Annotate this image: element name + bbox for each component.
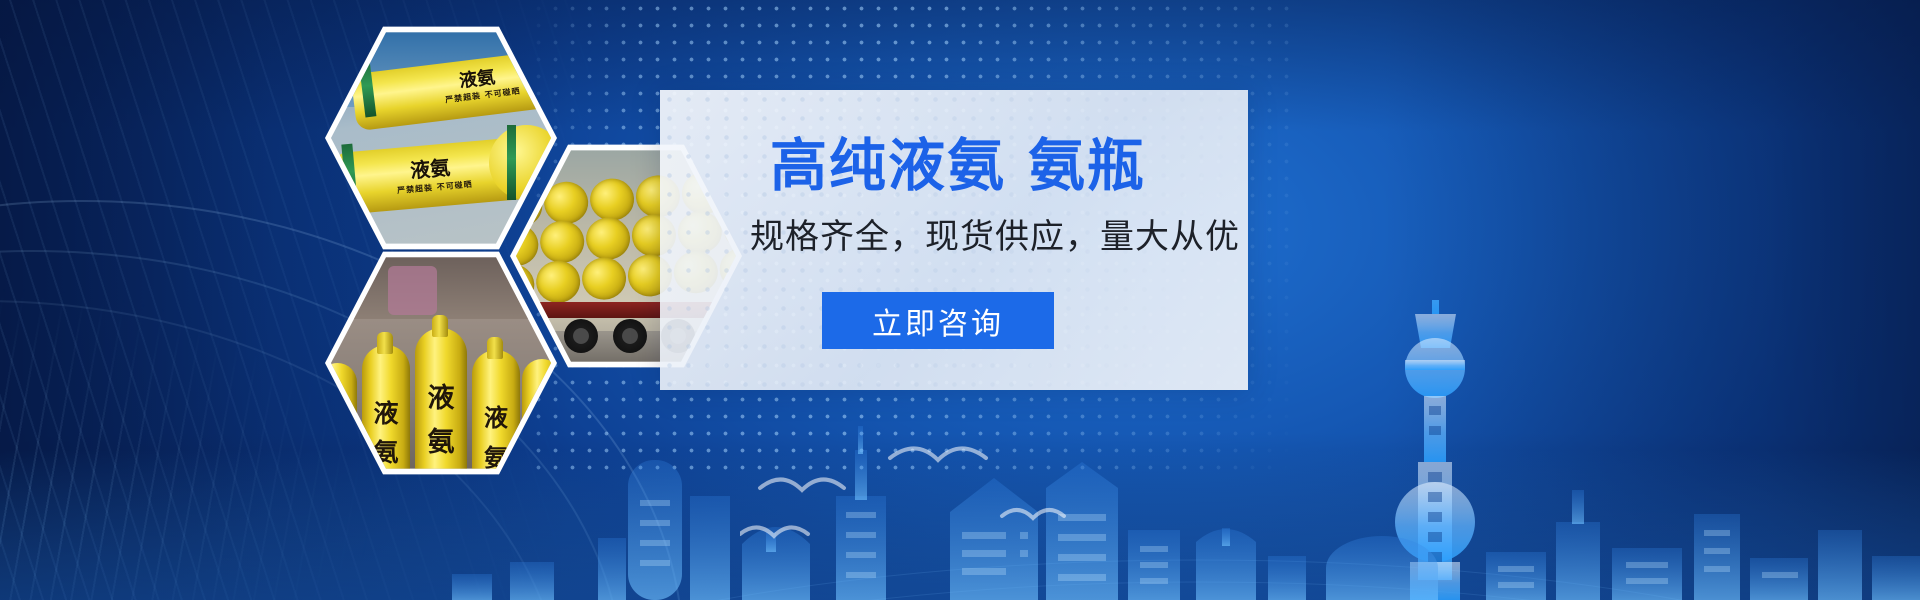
hex-image-bottom: 液 氨 液 氨 液 氨 — [331, 253, 551, 473]
content-panel: 高纯液氨 氨瓶 规格齐全，现货供应，量大从优 立即咨询 — [660, 90, 1248, 390]
hex-photo-bottom: 液 氨 液 氨 液 氨 — [325, 247, 557, 479]
subtitle-text: 规格齐全，现货供应，量大从优 — [750, 220, 1250, 254]
seagull-icons — [740, 430, 1160, 550]
consult-now-button[interactable]: 立即咨询 — [822, 292, 1054, 349]
page-title: 高纯液氨 氨瓶 — [770, 138, 1240, 195]
promo-banner: 液氨 严禁超装 不可碰晒 液氨 严禁超装 不可碰晒 — [0, 0, 1920, 600]
